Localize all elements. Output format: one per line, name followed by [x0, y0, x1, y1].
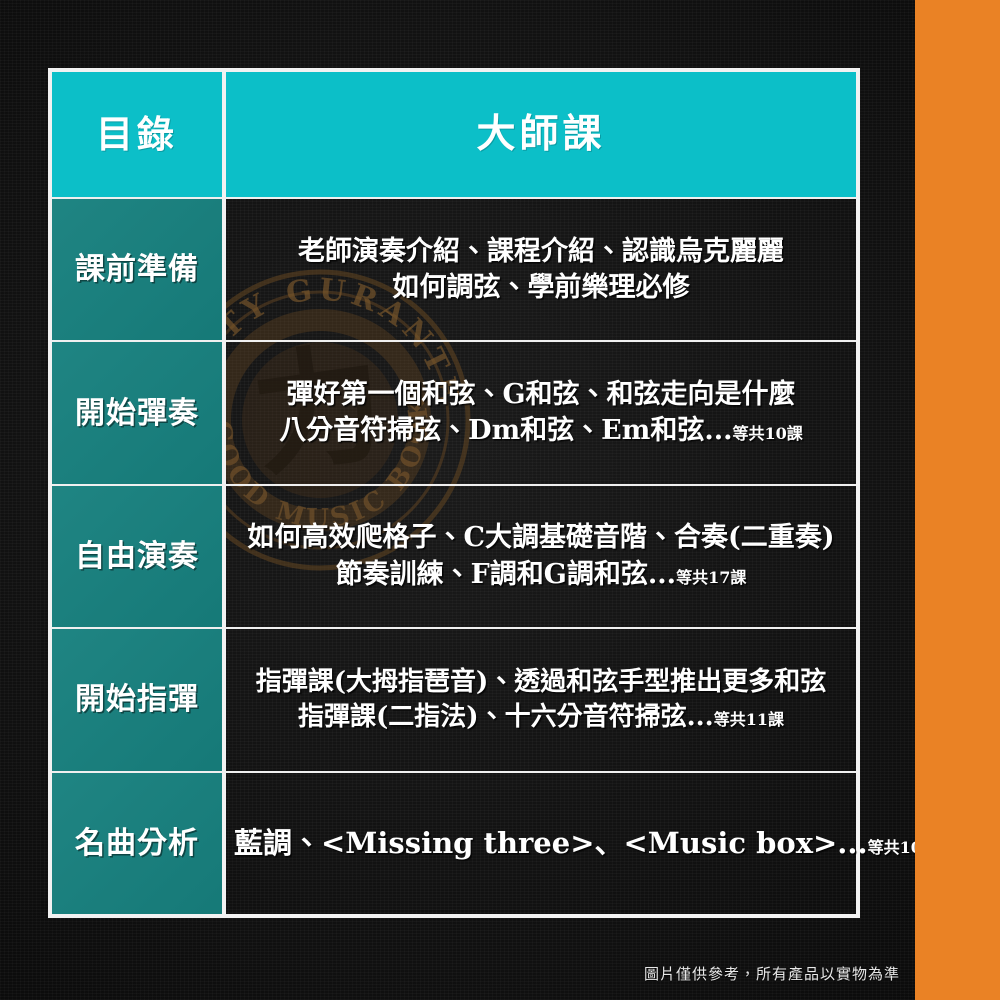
poster-canvas: QUALITY GURANTEE GOOD MUSIC BOOK 力 目錄 大師… [0, 0, 1000, 1000]
row-label: 自由演奏 [75, 540, 199, 573]
content-line-text: 八分音符掃弦、Dm和弦、Em和弦... [279, 415, 732, 446]
row-content: 老師演奏介紹、課程介紹、認識烏克麗麗 如何調弦、學前樂理必修 [290, 234, 792, 306]
row-label-cell: 名曲分析 [52, 773, 226, 914]
row-content-cell: 藍調、<Missing three>、<Music box>...等共10課 [226, 773, 946, 914]
row-label-cell: 課前準備 [52, 199, 226, 340]
table-row: 開始彈奏 彈好第一個和弦、G和弦、和弦走向是什麼 八分音符掃弦、Dm和弦、Em和… [52, 340, 856, 483]
content-line-suffix: 等共10課 [733, 424, 803, 443]
table-row: 課前準備 老師演奏介紹、課程介紹、認識烏克麗麗 如何調弦、學前樂理必修 [52, 197, 856, 340]
row-content-cell: 彈好第一個和弦、G和弦、和弦走向是什麼 八分音符掃弦、Dm和弦、Em和弦...等… [226, 342, 856, 483]
table-header-row: 目錄 大師課 [52, 72, 856, 197]
content-line: 節奏訓練、F調和G調和弦...等共17課 [247, 557, 834, 593]
row-content: 如何高效爬格子、C大調基礎音階、合奏(二重奏) 節奏訓練、F調和G調和弦...等… [239, 520, 842, 592]
table-row: 自由演奏 如何高效爬格子、C大調基礎音階、合奏(二重奏) 節奏訓練、F調和G調和… [52, 484, 856, 627]
orange-accent-band [915, 0, 1000, 1000]
disclaimer-note: 圖片僅供參考，所有產品以實物為準 [644, 963, 900, 984]
course-outline-table: 目錄 大師課 課前準備 老師演奏介紹、課程介紹、認識烏克麗麗 如何調弦、學前樂理… [48, 68, 860, 918]
content-line: 指彈課(二指法)、十六分音符掃弦...等共11課 [256, 700, 827, 735]
content-line: 八分音符掃弦、Dm和弦、Em和弦...等共10課 [279, 413, 803, 449]
content-line-text: 如何調弦、學前樂理必修 [393, 272, 690, 303]
row-label: 名曲分析 [75, 827, 199, 860]
content-line-text: 節奏訓練、F調和G調和弦... [336, 559, 676, 590]
row-content: 彈好第一個和弦、G和弦、和弦走向是什麼 八分音符掃弦、Dm和弦、Em和弦...等… [271, 377, 811, 449]
content-line: 彈好第一個和弦、G和弦、和弦走向是什麼 [279, 377, 803, 413]
header-masterclass-label: 大師課 [476, 115, 605, 154]
content-line: 藍調、<Missing three>、<Music box>...等共10課 [234, 824, 938, 863]
table-row: 名曲分析 藍調、<Missing three>、<Music box>...等共… [52, 771, 856, 914]
content-line-text: 彈好第一個和弦、G和弦、和弦走向是什麼 [286, 379, 795, 410]
content-line-suffix: 等共17課 [676, 568, 746, 587]
content-line-text: 指彈課(二指法)、十六分音符掃弦... [298, 702, 714, 732]
row-label-cell: 自由演奏 [52, 486, 226, 627]
row-label-cell: 開始彈奏 [52, 342, 226, 483]
row-content: 指彈課(大拇指琶音)、透過和弦手型推出更多和弦 指彈課(二指法)、十六分音符掃弦… [248, 665, 835, 735]
row-label: 開始指彈 [75, 683, 199, 716]
row-content-cell: 指彈課(大拇指琶音)、透過和弦手型推出更多和弦 指彈課(二指法)、十六分音符掃弦… [226, 629, 856, 770]
header-index-label: 目錄 [96, 116, 178, 153]
content-line-suffix: 等共11課 [714, 710, 784, 729]
content-line-text: 指彈課(大拇指琶音)、透過和弦手型推出更多和弦 [256, 667, 827, 697]
content-line: 老師演奏介紹、課程介紹、認識烏克麗麗 [298, 234, 784, 270]
content-line: 指彈課(大拇指琶音)、透過和弦手型推出更多和弦 [256, 665, 827, 700]
content-line: 如何調弦、學前樂理必修 [298, 270, 784, 306]
header-cell-masterclass: 大師課 [226, 72, 856, 197]
content-line-text: 藍調、<Missing three>、<Music box>... [234, 826, 868, 860]
row-label-cell: 開始指彈 [52, 629, 226, 770]
row-label: 開始彈奏 [75, 397, 199, 430]
table-row: 開始指彈 指彈課(大拇指琶音)、透過和弦手型推出更多和弦 指彈課(二指法)、十六… [52, 627, 856, 770]
content-line: 如何高效爬格子、C大調基礎音階、合奏(二重奏) [247, 520, 834, 556]
row-content: 藍調、<Missing three>、<Music box>...等共10課 [226, 824, 946, 863]
row-label: 課前準備 [75, 253, 199, 286]
header-cell-index: 目錄 [52, 72, 226, 197]
content-line-text: 如何高效爬格子、C大調基礎音階、合奏(二重奏) [247, 522, 834, 553]
row-content-cell: 老師演奏介紹、課程介紹、認識烏克麗麗 如何調弦、學前樂理必修 [226, 199, 856, 340]
row-content-cell: 如何高效爬格子、C大調基礎音階、合奏(二重奏) 節奏訓練、F調和G調和弦...等… [226, 486, 856, 627]
content-line-text: 老師演奏介紹、課程介紹、認識烏克麗麗 [298, 236, 784, 267]
